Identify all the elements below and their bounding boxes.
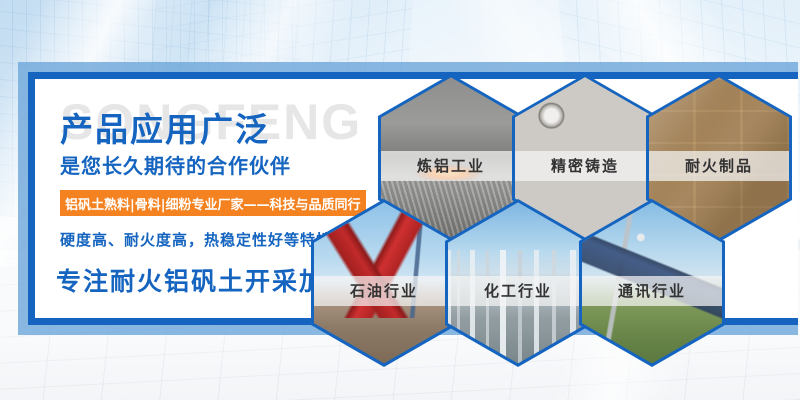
hex-label: 化工行业	[448, 276, 588, 306]
tagline: 专注耐火铝矾土开采加工	[56, 262, 353, 298]
feature-line: 硬度高、耐火度高，热稳定性好等特性	[60, 229, 332, 250]
headline: 产品应用广泛	[60, 103, 270, 151]
hex-label: 精密铸造	[515, 151, 655, 181]
hex-label: 通讯行业	[582, 276, 722, 306]
subheadline: 是您长久期待的合作伙伴	[60, 150, 291, 179]
orange-tagline-bar: 铝矾土熟料|骨料|细粉专业厂家——科技与品质同行	[60, 190, 366, 216]
banner-stage: SONGFENG 产品应用广泛 是您长久期待的合作伙伴 铝矾土熟料|骨料|细粉专…	[0, 0, 800, 400]
hex-label: 耐火制品	[649, 151, 789, 181]
hex-label: 炼铝工业	[381, 151, 521, 181]
hex-label: 石油行业	[314, 276, 454, 306]
